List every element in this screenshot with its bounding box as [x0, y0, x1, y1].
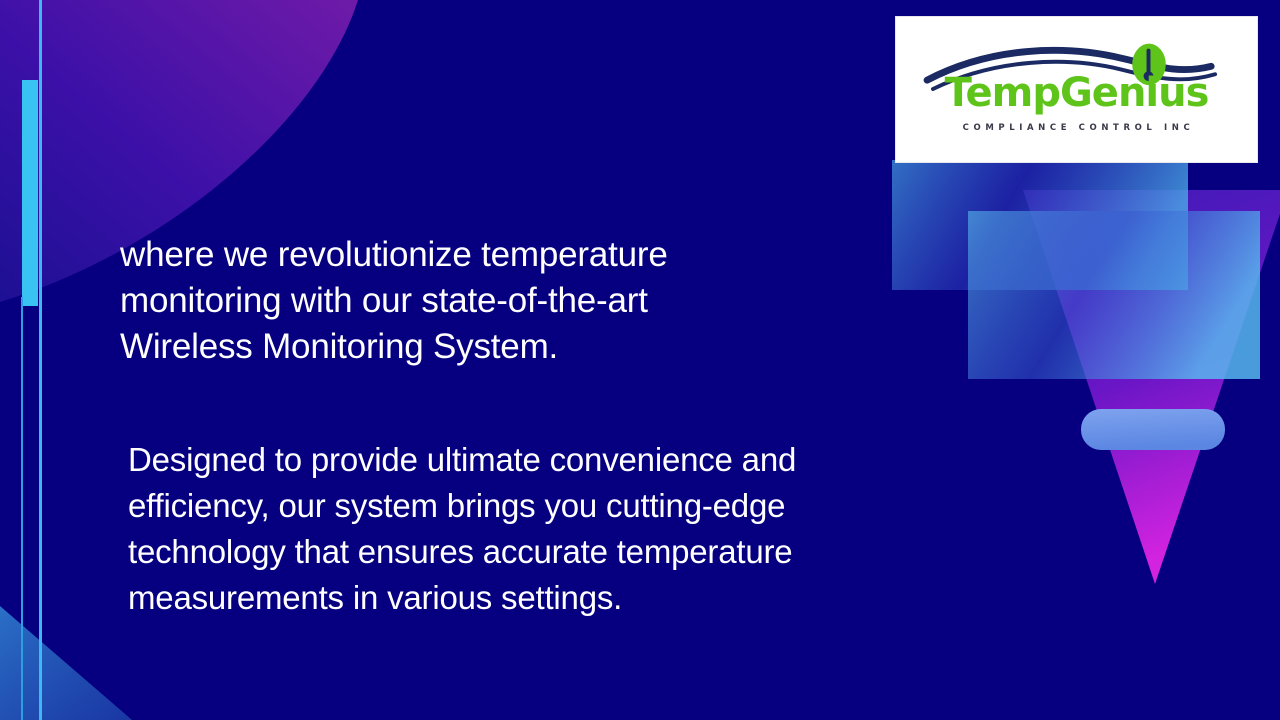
left-accent-line-inner [39, 0, 42, 720]
body-paragraph-2: Designed to provide ultimate convenience… [128, 437, 918, 621]
decor-rectangle-lower [968, 211, 1260, 379]
logo-wordmark: TempGenius [896, 73, 1257, 113]
tempgenius-logo-box: TempGenius COMPLIANCE CONTROL INC [895, 16, 1258, 163]
body-paragraph-1: where we revolutionize temperature monit… [120, 232, 780, 370]
left-accent-line-outer [21, 297, 23, 720]
logo-tagline: COMPLIANCE CONTROL INC [896, 123, 1257, 133]
left-accent-bar [22, 80, 38, 306]
slide-canvas: TempGenius COMPLIANCE CONTROL INC where … [0, 0, 1280, 720]
rounded-pill-shape [1081, 409, 1225, 450]
